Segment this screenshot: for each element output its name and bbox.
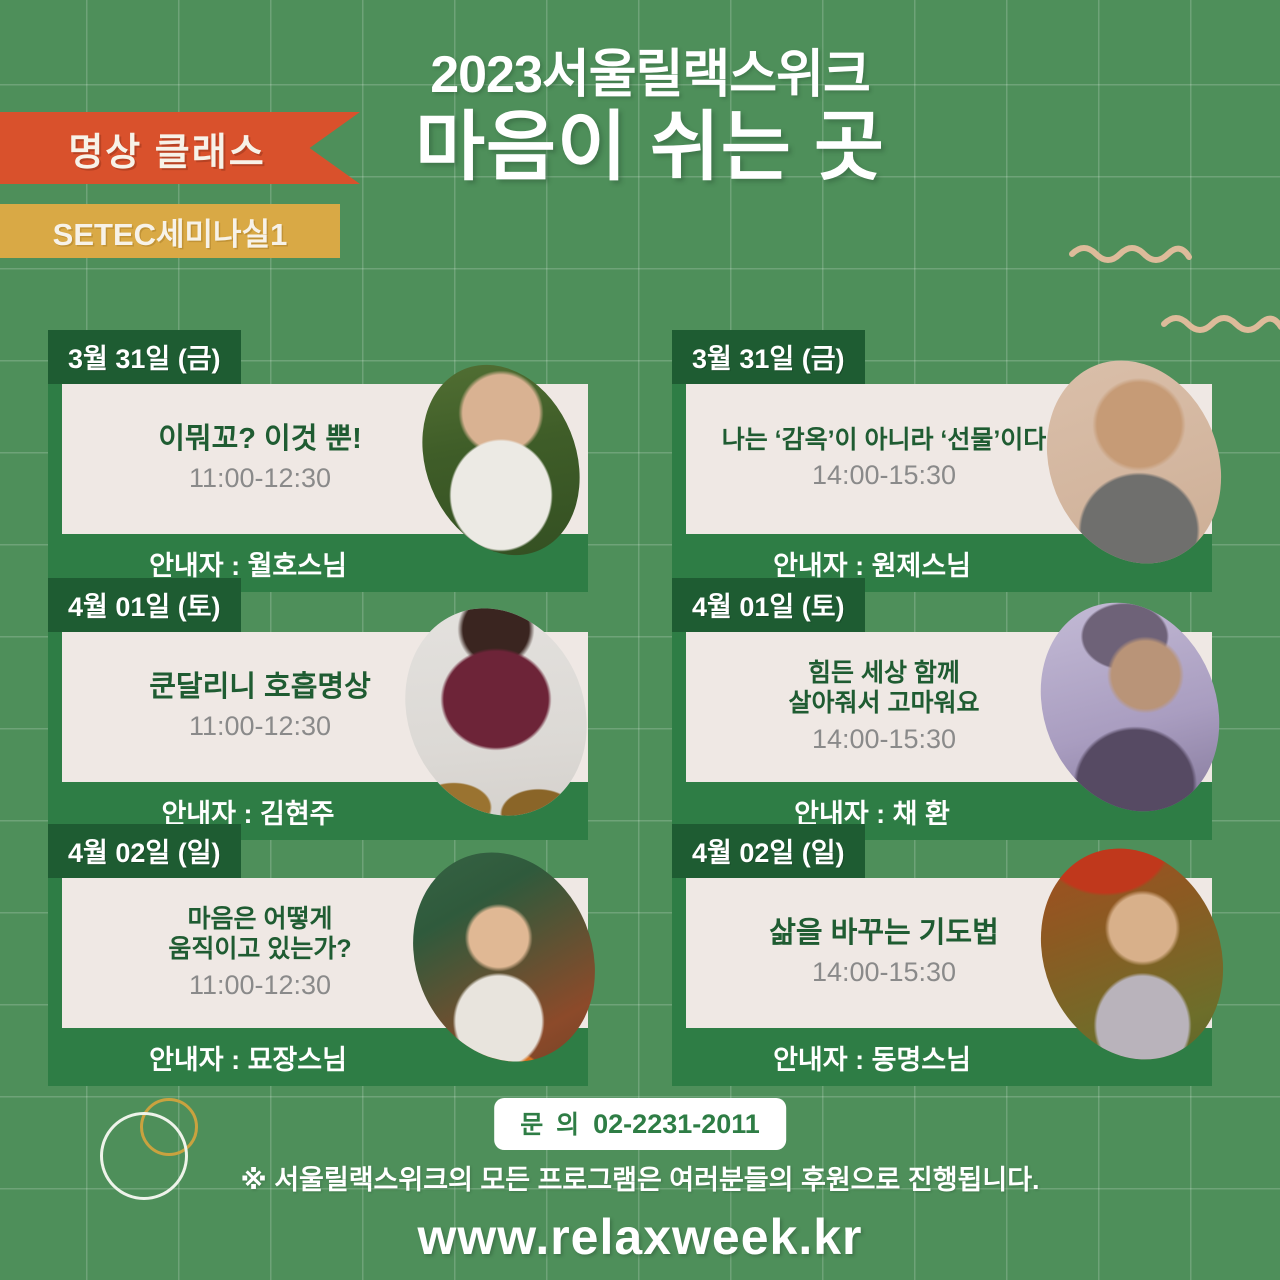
session-title: 쿤달리니 호흡명상 xyxy=(149,670,371,705)
sponsor-note: ※ 서울릴랙스위크의 모든 프로그램은 여러분들의 후원으로 진행됩니다. xyxy=(0,1158,1280,1197)
session-title: 이뭐꼬? 이것 뿐! xyxy=(158,422,362,457)
session-time: 14:00-15:30 xyxy=(812,956,956,990)
session-guide-label: 안내자 : 동명스님 xyxy=(773,1038,971,1077)
poster-root: 명상 클래스 SETEC세미나실1 2023서울릴랙스위크 마음이 쉬는 곳 3… xyxy=(0,0,1280,1280)
session-date: 4월 02일 (일) xyxy=(48,824,241,878)
class-type-label: 명상 클래스 xyxy=(68,121,265,176)
website-url[interactable]: www.relaxweek.kr xyxy=(0,1208,1280,1266)
session-time: 11:00-12:30 xyxy=(189,969,331,1003)
contact-label: 문 의 xyxy=(520,1105,582,1141)
contact-badge[interactable]: 문 의 02-2231-2011 xyxy=(494,1098,786,1150)
session-time: 11:00-12:30 xyxy=(189,462,331,496)
session-title: 삶을 바꾸는 기도법 xyxy=(769,916,999,951)
wave-line-icon xyxy=(1068,240,1193,266)
session-guide-label: 안내자 : 원제스님 xyxy=(773,544,971,583)
venue-label: SETEC세미나실1 xyxy=(53,209,288,254)
venue-banner: SETEC세미나실1 xyxy=(0,204,340,258)
session-date: 3월 31일 (금) xyxy=(48,330,241,384)
contact-number: 02-2231-2011 xyxy=(593,1109,760,1140)
page-title: 2023서울릴랙스위크 마음이 쉬는 곳 xyxy=(370,48,930,190)
event-name: 2023서울릴랙스위크 xyxy=(370,48,930,103)
session-card[interactable]: 3월 31일 (금) 이뭐꼬? 이것 뿐! 11:00-12:30 안내자 : … xyxy=(48,330,588,592)
event-tagline: 마음이 쉬는 곳 xyxy=(370,105,930,190)
session-guide-label: 안내자 : 월호스님 xyxy=(149,544,347,583)
session-date: 4월 02일 (일) xyxy=(672,824,865,878)
session-title: 힘든 세상 함께 살아줘서 고마워요 xyxy=(789,658,980,719)
session-time: 11:00-12:30 xyxy=(189,710,331,744)
session-card[interactable]: 4월 02일 (일) 마음은 어떻게 움직이고 있는가? 11:00-12:30… xyxy=(48,824,588,1086)
session-title: 나는 ‘감옥’이 아니라 ‘선물’이다 xyxy=(722,425,1047,456)
session-card[interactable]: 4월 01일 (토) 쿤달리니 호흡명상 11:00-12:30 안내자 : 김… xyxy=(48,578,588,840)
session-time: 14:00-15:30 xyxy=(812,723,956,757)
session-title: 마음은 어떻게 움직이고 있는가? xyxy=(168,904,351,965)
session-card[interactable]: 4월 01일 (토) 힘든 세상 함께 살아줘서 고마워요 14:00-15:3… xyxy=(672,578,1212,840)
session-guide-label: 안내자 : 묘장스님 xyxy=(149,1038,347,1077)
session-card[interactable]: 3월 31일 (금) 나는 ‘감옥’이 아니라 ‘선물’이다 14:00-15:… xyxy=(672,330,1212,592)
class-type-ribbon: 명상 클래스 xyxy=(0,112,360,184)
session-card[interactable]: 4월 02일 (일) 삶을 바꾸는 기도법 14:00-15:30 안내자 : … xyxy=(672,824,1212,1086)
session-date: 3월 31일 (금) xyxy=(672,330,865,384)
session-date: 4월 01일 (토) xyxy=(672,578,865,632)
session-date: 4월 01일 (토) xyxy=(48,578,241,632)
session-time: 14:00-15:30 xyxy=(812,459,956,493)
